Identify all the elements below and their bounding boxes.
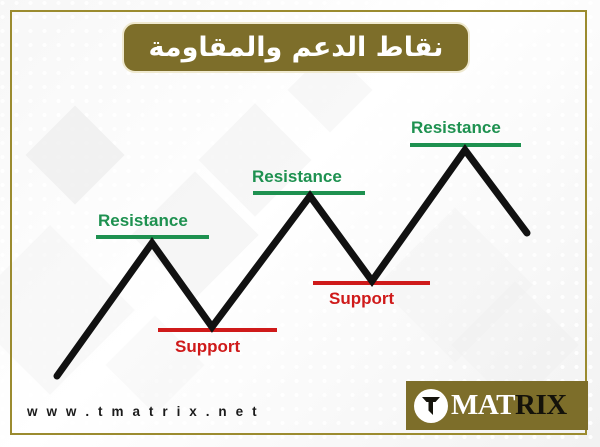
resistance-label: Resistance bbox=[98, 212, 188, 229]
brand-logo: MATRIX bbox=[406, 381, 588, 430]
support-label: Support bbox=[175, 338, 240, 355]
logo-word-mat: MAT bbox=[451, 389, 515, 421]
t-monogram-icon bbox=[414, 389, 448, 423]
poster-canvas: نقاط الدعم والمقاومة ResistanceSupportRe… bbox=[0, 0, 600, 447]
support-label: Support bbox=[329, 290, 394, 307]
site-url: w w w . t m a t r i x . n e t bbox=[27, 404, 259, 419]
logo-word-rix: RIX bbox=[515, 389, 567, 421]
resistance-label: Resistance bbox=[411, 119, 501, 136]
resistance-label: Resistance bbox=[252, 168, 342, 185]
price-chart bbox=[0, 0, 600, 447]
logo-wordmark: MATRIX bbox=[451, 391, 567, 420]
